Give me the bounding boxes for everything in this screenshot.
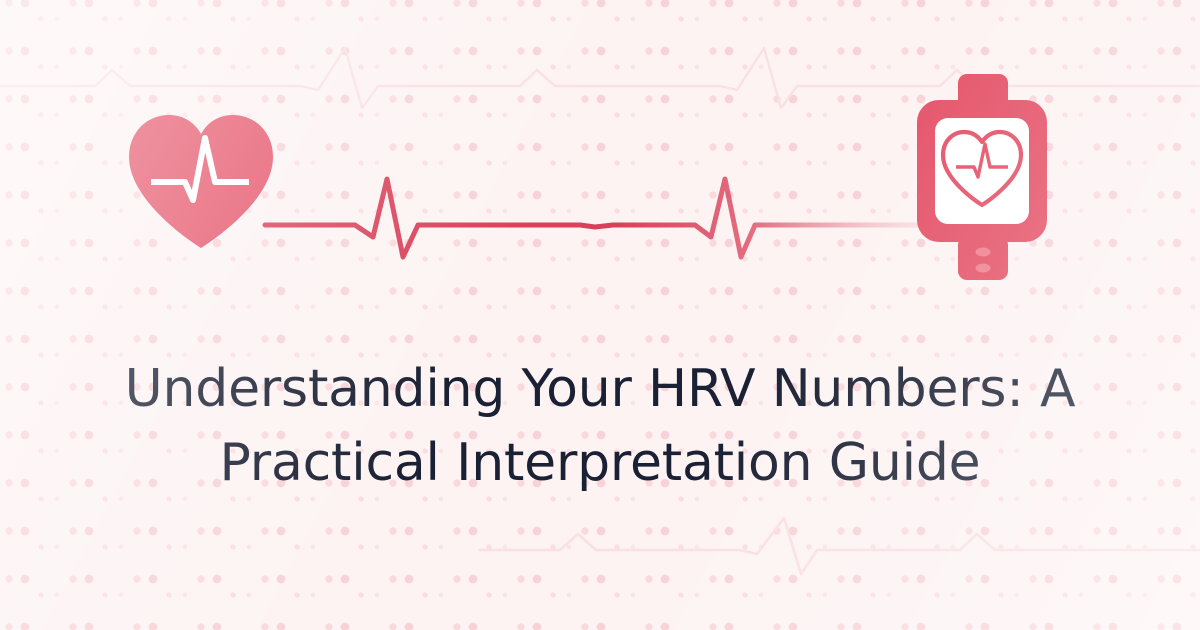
social-card-canvas: Understanding Your HRV Numbers: A Practi…	[0, 0, 1200, 630]
smartwatch-heart-icon	[908, 72, 1056, 282]
page-title: Understanding Your HRV Numbers: A Practi…	[60, 352, 1140, 500]
hero-graphics	[0, 0, 1200, 320]
heart-pulse-icon	[123, 112, 279, 248]
page-title-container: Understanding Your HRV Numbers: A Practi…	[0, 352, 1200, 500]
ecg-line-icon	[255, 165, 945, 260]
